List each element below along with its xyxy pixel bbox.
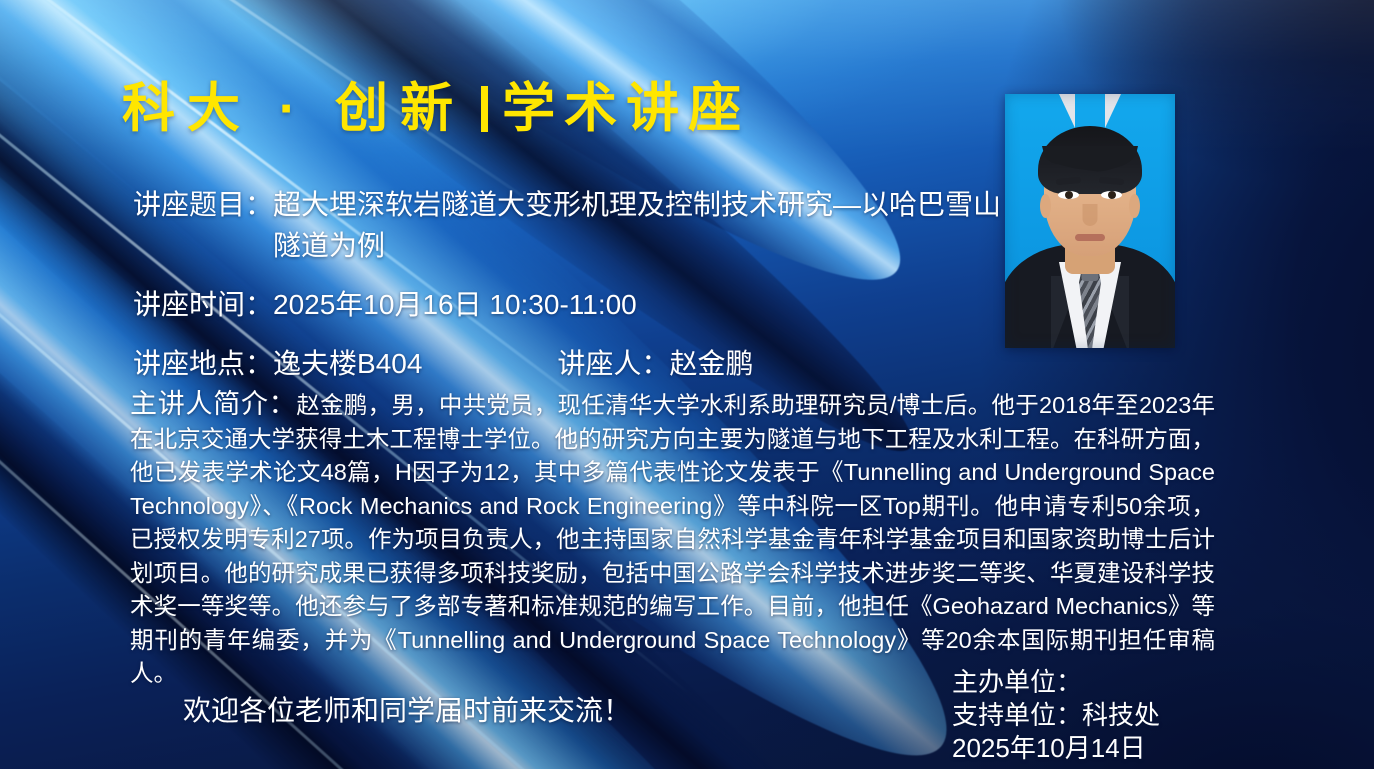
poster-title-sub: 学术讲座 (502, 82, 750, 135)
lecture-poster: 科大 · 创新 学术讲座 讲座题目： 超大埋深软岩隧道大变形机理及控制技术研究—… (0, 0, 1374, 769)
lecture-info-block: 讲座题目： 超大埋深软岩隧道大变形机理及控制技术研究—以哈巴雪山隧道为例 讲座时… (133, 184, 1013, 384)
title-separator-bar (481, 86, 488, 132)
info-spacer-1 (133, 266, 1013, 284)
welcome-message: 欢迎各位老师和同学届时前来交流！ (183, 694, 631, 728)
lecture-venue-value: 逸夫楼B404 (273, 343, 422, 384)
lecture-topic-row: 讲座题目： 超大埋深软岩隧道大变形机理及控制技术研究—以哈巴雪山隧道为例 (133, 184, 1013, 266)
lecture-topic-value: 超大埋深软岩隧道大变形机理及控制技术研究—以哈巴雪山隧道为例 (273, 184, 1013, 266)
poster-title-main: 科大 · 创新 (122, 82, 465, 135)
host-organization-label: 主办单位： (952, 666, 1160, 699)
venue-speaker-gap (422, 343, 557, 384)
organizer-footer: 主办单位： 支持单位：科技处 2025年10月14日 (952, 666, 1160, 765)
publish-date: 2025年10月14日 (952, 732, 1160, 765)
speaker-bio-label: 主讲人简介： (130, 389, 296, 419)
speaker-bio-text: 赵金鹏，男，中共党员，现任清华大学水利系助理研究员/博士后。他于2018年至20… (130, 392, 1215, 686)
lecture-speaker-label: 讲座人： (557, 343, 669, 384)
speaker-portrait-photo (1005, 94, 1175, 348)
info-spacer-2 (133, 325, 1013, 343)
support-organization-label: 支持单位：科技处 (952, 699, 1160, 732)
lecture-topic-label: 讲座题目： (133, 184, 273, 225)
lecture-time-row: 讲座时间： 2025年10月16日 10:30-11:00 (133, 284, 1013, 325)
portrait-vignette (1005, 94, 1175, 348)
speaker-bio-paragraph: 主讲人简介：赵金鹏，男，中共党员，现任清华大学水利系助理研究员/博士后。他于20… (130, 388, 1215, 691)
lecture-venue-row: 讲座地点： 逸夫楼B404 讲座人： 赵金鹏 (133, 343, 1013, 384)
lecture-venue-label: 讲座地点： (133, 343, 273, 384)
lecture-time-label: 讲座时间： (133, 284, 273, 325)
lecture-time-value: 2025年10月16日 10:30-11:00 (273, 284, 637, 325)
poster-title: 科大 · 创新 学术讲座 (122, 82, 750, 135)
lecture-speaker-value: 赵金鹏 (669, 343, 753, 384)
